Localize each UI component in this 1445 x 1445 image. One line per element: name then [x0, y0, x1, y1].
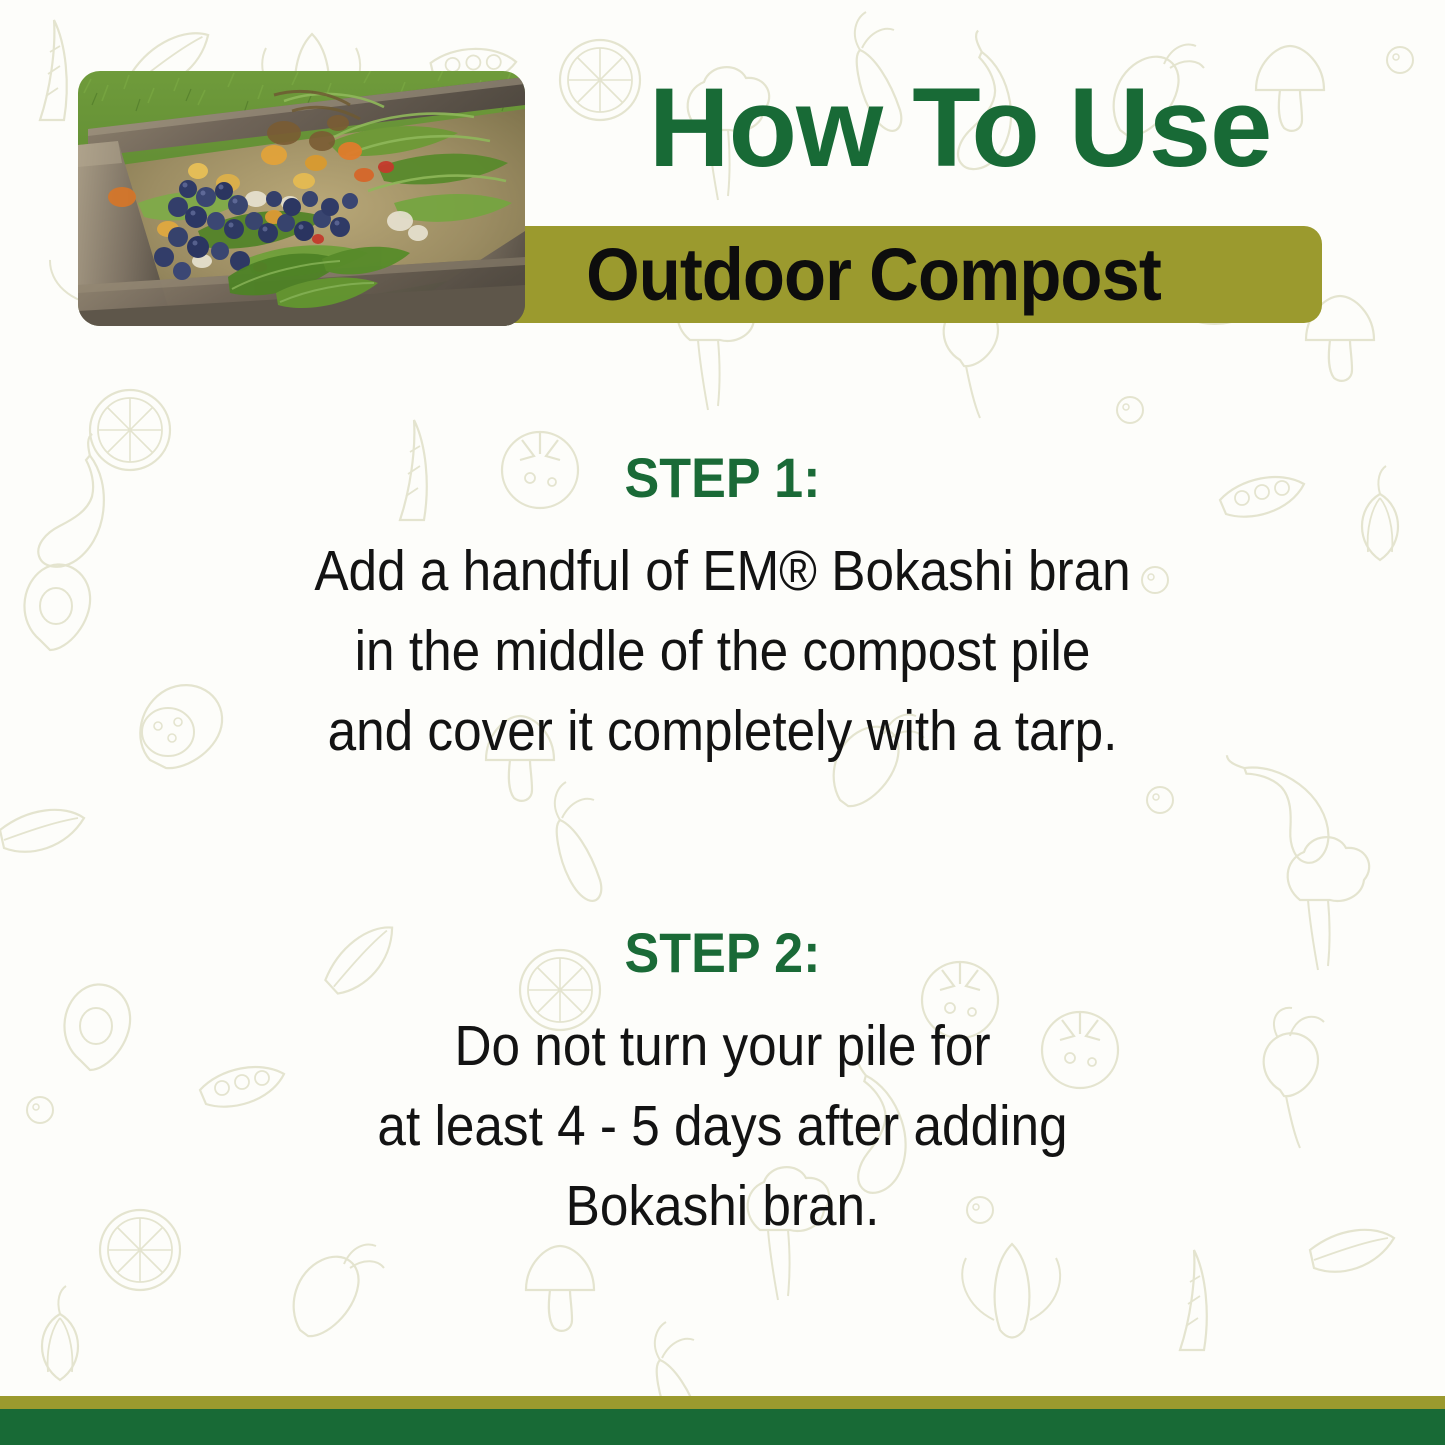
- step-1-line-1: Add a handful of EM® Bokashi bran: [72, 532, 1373, 612]
- footer-olive-bar: [0, 1396, 1445, 1409]
- page-title: How To Use: [540, 72, 1380, 184]
- step-2-line-2: at least 4 - 5 days after adding: [72, 1087, 1373, 1167]
- steps-content: STEP 1: Add a handful of EM® Bokashi bra…: [0, 345, 1445, 1390]
- step-2-line-3: Bokashi bran.: [72, 1167, 1373, 1247]
- step-1-heading: STEP 1:: [51, 445, 1395, 510]
- title-block: How To Use: [540, 72, 1380, 184]
- page-subtitle: Outdoor Compost: [456, 232, 1290, 317]
- step-1-line-2: in the middle of the compost pile: [72, 612, 1373, 692]
- step-1-block: STEP 1: Add a handful of EM® Bokashi bra…: [0, 445, 1445, 771]
- header: How To Use Outdoor Compost: [0, 0, 1445, 345]
- step-1-body: Add a handful of EM® Bokashi bran in the…: [72, 532, 1373, 771]
- step-2-line-1: Do not turn your pile for: [72, 1007, 1373, 1087]
- step-2-body: Do not turn your pile for at least 4 - 5…: [72, 1007, 1373, 1246]
- step-1-line-3: and cover it completely with a tarp.: [72, 692, 1373, 772]
- infographic-page: How To Use Outdoor Compost STEP 1: Add a…: [0, 0, 1445, 1445]
- step-2-heading: STEP 2:: [51, 920, 1395, 985]
- step-2-block: STEP 2: Do not turn your pile for at lea…: [0, 920, 1445, 1246]
- footer-green-bar: [0, 1409, 1445, 1445]
